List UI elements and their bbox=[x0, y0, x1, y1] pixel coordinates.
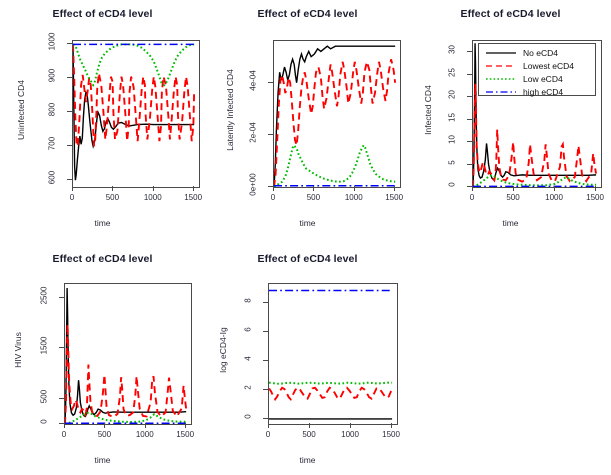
y-tickmark bbox=[263, 389, 268, 390]
y-tickmark bbox=[263, 360, 268, 361]
series-group bbox=[274, 41, 400, 187]
y-tickmark bbox=[67, 77, 72, 78]
y-tick-label: 500 bbox=[40, 381, 49, 411]
plot-area bbox=[268, 283, 398, 425]
y-tick-label: 600 bbox=[48, 163, 57, 193]
plot-area bbox=[64, 283, 192, 425]
x-tickmark bbox=[268, 423, 269, 428]
x-axis-label: time bbox=[0, 455, 205, 465]
x-tick-label: 1500 bbox=[376, 193, 412, 202]
x-tickmark bbox=[313, 186, 314, 191]
panel-title: Effect of eCD4 level bbox=[205, 253, 410, 265]
plot-area bbox=[72, 40, 200, 188]
panel-latently-infected-cd4: Effect of eCD4 level Latently Infected C… bbox=[205, 0, 410, 235]
series-no-ecd4 bbox=[65, 288, 186, 424]
legend-row: Low eCD4 bbox=[479, 73, 595, 85]
x-tick-label: 500 bbox=[291, 430, 327, 439]
x-tickmark bbox=[72, 186, 73, 191]
y-tickmark bbox=[59, 423, 64, 424]
y-tick-label: 1500 bbox=[40, 331, 49, 361]
y-tick-label: 0e+00 bbox=[249, 170, 258, 200]
x-tick-label: 0 bbox=[250, 430, 286, 439]
y-tickmark bbox=[467, 186, 472, 187]
y-tick-label: 900 bbox=[48, 61, 57, 91]
x-tick-label: 1500 bbox=[577, 193, 611, 202]
x-tickmark bbox=[145, 423, 146, 428]
series-group bbox=[65, 284, 191, 424]
x-tickmark bbox=[64, 423, 65, 428]
y-tick-label: 8 bbox=[244, 285, 253, 315]
y-axis-label: log eCD4-Ig bbox=[218, 305, 228, 395]
series-group bbox=[269, 284, 397, 424]
x-tick-label: 0 bbox=[454, 193, 490, 202]
x-tick-label: 1500 bbox=[373, 430, 409, 439]
y-tick-label: 800 bbox=[48, 95, 57, 125]
x-tickmark bbox=[350, 423, 351, 428]
panel-title: Effect of eCD4 level bbox=[410, 8, 611, 20]
y-tickmark bbox=[467, 51, 472, 52]
x-tickmark bbox=[354, 186, 355, 191]
x-axis-label: time bbox=[0, 218, 205, 228]
legend-row: No eCD4 bbox=[479, 47, 595, 59]
y-tick-label: 1000 bbox=[48, 27, 57, 57]
series-low-ecd4 bbox=[65, 413, 186, 424]
y-tick-label: 4 bbox=[244, 343, 253, 373]
panel-title: Effect of eCD4 level bbox=[0, 8, 205, 20]
x-axis-label: time bbox=[410, 218, 611, 228]
x-tick-label: 1000 bbox=[127, 430, 163, 439]
panel-hiv-virus: Effect of eCD4 level HIV Virus time 0500… bbox=[0, 245, 205, 475]
y-axis-label: Infected CD4 bbox=[423, 65, 433, 155]
x-tick-label: 0 bbox=[46, 430, 82, 439]
y-tickmark bbox=[59, 297, 64, 298]
panel-log-ecd4-ig: Effect of eCD4 level log eCD4-Ig time 05… bbox=[205, 245, 410, 475]
y-tick-label: 4e-04 bbox=[249, 65, 258, 95]
x-tick-label: 500 bbox=[295, 193, 331, 202]
y-tick-label: 2 bbox=[244, 372, 253, 402]
x-tickmark bbox=[193, 186, 194, 191]
y-tick-label: 30 bbox=[448, 35, 457, 65]
x-tickmark bbox=[153, 186, 154, 191]
x-tick-label: 1000 bbox=[332, 430, 368, 439]
y-axis-label: Latently Infected CD4 bbox=[225, 50, 235, 170]
x-tick-label: 1000 bbox=[336, 193, 372, 202]
y-tickmark bbox=[67, 111, 72, 112]
x-tick-label: 0 bbox=[54, 193, 90, 202]
y-tickmark bbox=[67, 179, 72, 180]
x-tickmark bbox=[112, 186, 113, 191]
x-tickmark bbox=[472, 186, 473, 191]
y-tickmark bbox=[467, 119, 472, 120]
y-axis-label: HIV Virus bbox=[13, 305, 23, 395]
y-tickmark bbox=[67, 43, 72, 44]
y-tickmark bbox=[67, 145, 72, 146]
y-tickmark bbox=[263, 302, 268, 303]
y-tickmark bbox=[467, 141, 472, 142]
y-tickmark bbox=[263, 418, 268, 419]
series-lowest-ecd4 bbox=[274, 59, 395, 187]
x-axis-label: time bbox=[205, 218, 410, 228]
x-tickmark bbox=[595, 186, 596, 191]
y-tickmark bbox=[467, 164, 472, 165]
y-tickmark bbox=[59, 398, 64, 399]
x-tickmark bbox=[394, 186, 395, 191]
y-tick-label: 2e-04 bbox=[249, 117, 258, 147]
x-tick-label: 500 bbox=[495, 193, 531, 202]
legend-line-low-ecd4 bbox=[484, 73, 518, 85]
plot-area bbox=[273, 40, 401, 188]
x-tick-label: 0 bbox=[255, 193, 291, 202]
x-tick-label: 1000 bbox=[536, 193, 572, 202]
legend-label-1: Lowest eCD4 bbox=[523, 61, 574, 71]
legend-line-high-ecd4 bbox=[484, 86, 518, 98]
x-tickmark bbox=[554, 186, 555, 191]
x-tickmark bbox=[309, 423, 310, 428]
x-tickmark bbox=[104, 423, 105, 428]
legend-row: high eCD4 bbox=[479, 86, 595, 98]
legend-line-lowest-ecd4 bbox=[484, 60, 518, 72]
y-tickmark bbox=[268, 134, 273, 135]
y-tickmark bbox=[467, 96, 472, 97]
y-tickmark bbox=[59, 347, 64, 348]
x-tickmark bbox=[273, 186, 274, 191]
x-tick-label: 500 bbox=[86, 430, 122, 439]
panel-title: Effect of eCD4 level bbox=[205, 8, 410, 20]
panel-infected-cd4: Effect of eCD4 level Infected CD4 time 0… bbox=[410, 0, 611, 235]
x-tickmark bbox=[391, 423, 392, 428]
series-no-ecd4 bbox=[73, 44, 194, 180]
y-tick-label: 6 bbox=[244, 314, 253, 344]
series-lowest-ecd4 bbox=[473, 84, 596, 187]
y-axis-label: Uninfected CD4 bbox=[16, 65, 26, 155]
legend-line-no-ecd4 bbox=[484, 47, 518, 59]
series-low-ecd4 bbox=[274, 145, 395, 187]
y-tick-label: 700 bbox=[48, 129, 57, 159]
series-group bbox=[73, 41, 199, 187]
legend-row: Lowest eCD4 bbox=[479, 60, 595, 72]
y-tickmark bbox=[263, 331, 268, 332]
y-tick-label: 0 bbox=[244, 401, 253, 431]
x-axis-label: time bbox=[205, 455, 410, 465]
y-tickmark bbox=[268, 82, 273, 83]
legend: No eCD4 Lowest eCD4 Low eCD4 high eCD4 bbox=[478, 43, 596, 96]
x-tickmark bbox=[185, 423, 186, 428]
series-lowest-ecd4 bbox=[65, 324, 186, 424]
panel-title: Effect of eCD4 level bbox=[0, 253, 205, 265]
series-low-ecd4 bbox=[269, 383, 392, 384]
y-tickmark bbox=[467, 74, 472, 75]
x-tick-label: 500 bbox=[94, 193, 130, 202]
x-tickmark bbox=[513, 186, 514, 191]
legend-label-2: Low eCD4 bbox=[523, 74, 563, 84]
x-tick-label: 1000 bbox=[135, 193, 171, 202]
y-tick-label: 2500 bbox=[40, 281, 49, 311]
legend-label-0: No eCD4 bbox=[523, 48, 558, 58]
legend-label-3: high eCD4 bbox=[523, 87, 563, 97]
x-tick-label: 1500 bbox=[167, 430, 203, 439]
series-lowest-ecd4 bbox=[269, 388, 392, 400]
y-tickmark bbox=[268, 186, 273, 187]
panel-uninfected-cd4: Effect of eCD4 level Uninfected CD4 time… bbox=[0, 0, 205, 235]
